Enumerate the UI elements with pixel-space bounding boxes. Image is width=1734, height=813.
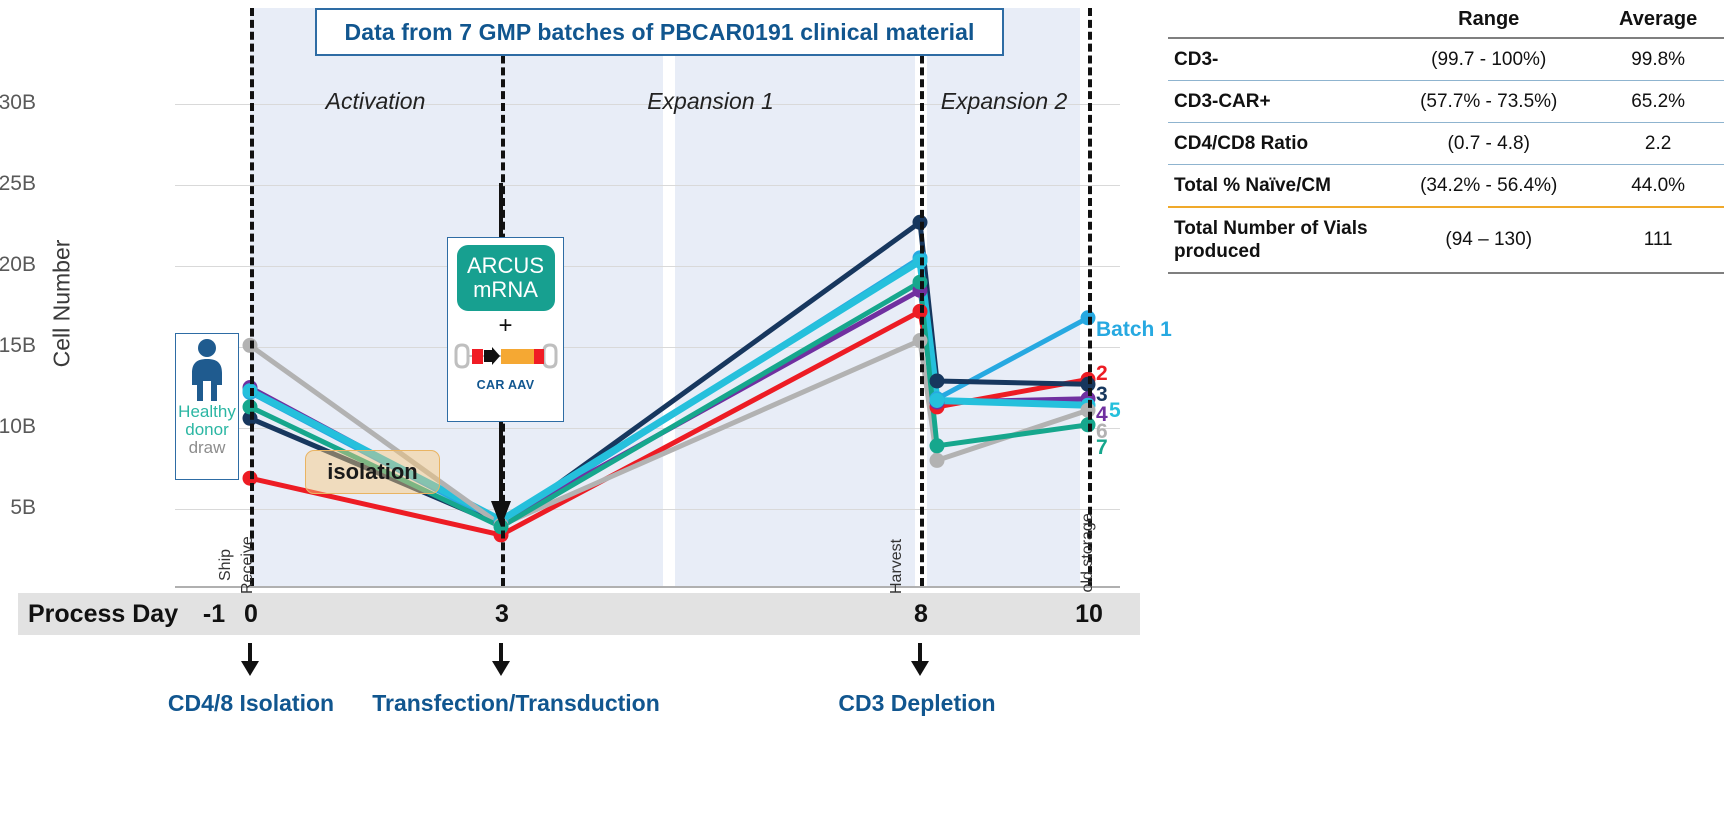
- isolation-callout: isolation: [305, 450, 440, 494]
- phase-label-expansion-2: Expansion 2: [920, 88, 1088, 115]
- note-harvest: Harvest: [888, 539, 906, 594]
- plus-icon: +: [498, 315, 512, 337]
- cell-average: 99.8%: [1592, 38, 1724, 81]
- y-tick-10b: 10B: [0, 415, 36, 439]
- table-header-row: Range Average: [1168, 6, 1724, 38]
- y-tick-15b: 15B: [0, 334, 36, 358]
- day-value-8: 8: [914, 600, 928, 629]
- stats-table-element: Range Average CD3-(99.7 - 100%)99.8%CD3-…: [1168, 6, 1724, 274]
- series-line-2: [250, 311, 1088, 535]
- arcus-line-1: ARCUS: [467, 254, 544, 278]
- table-row: CD4/CD8 Ratio(0.7 - 4.8)2.2: [1168, 123, 1724, 165]
- donor-line-3: draw: [189, 439, 226, 457]
- day-value-0: 0: [244, 600, 258, 629]
- series-point: [930, 438, 945, 453]
- note-cold-storage: Cold storage: [1079, 513, 1097, 604]
- cd48-isolation-arrow-icon: [239, 643, 263, 677]
- legend-batch-1: Batch 1: [1096, 318, 1172, 342]
- cell-range: (94 – 130): [1385, 207, 1592, 273]
- cell-metric: CD4/CD8 Ratio: [1168, 123, 1385, 165]
- phase-label-activation: Activation: [250, 88, 501, 115]
- table-row: CD3-CAR+(57.7% - 73.5%)65.2%: [1168, 81, 1724, 123]
- healthy-donor-draw-box: Healthy donor draw: [175, 333, 239, 480]
- annotation-cd48-isolation: CD4/8 Isolation: [168, 690, 334, 717]
- annotation-cd3-depletion: CD3 Depletion: [838, 690, 995, 717]
- transfection-transduction-arrow-icon: [490, 643, 514, 677]
- legend-batch-7: 7: [1096, 436, 1108, 460]
- cell-range: (57.7% - 73.5%): [1385, 81, 1592, 123]
- note-receive: Receive: [239, 536, 257, 594]
- cell-metric: CD3-: [1168, 38, 1385, 81]
- process-day-strip: Process Day -1 0 3 8 10: [18, 593, 1140, 635]
- y-axis-label: Cell Number: [49, 240, 76, 368]
- cell-range: (34.2% - 56.4%): [1385, 165, 1592, 208]
- cell-range: (0.7 - 4.8): [1385, 123, 1592, 165]
- stats-table-body: CD3-(99.7 - 100%)99.8%CD3-CAR+(57.7% - 7…: [1168, 38, 1724, 273]
- series-point: [930, 453, 945, 468]
- phase-label-expansion-1: Expansion 1: [501, 88, 920, 115]
- day-value-10: 10: [1075, 600, 1103, 629]
- header-metric: [1168, 6, 1385, 38]
- cell-metric: Total % Naïve/CM: [1168, 165, 1385, 208]
- y-tick-20b: 20B: [0, 253, 36, 277]
- arcus-construct-box: ARCUS mRNA + CAR AAV: [447, 237, 564, 422]
- donor-line-2: donor: [185, 421, 228, 439]
- arcus-pill: ARCUS mRNA: [457, 245, 555, 311]
- chart-title: Data from 7 GMP batches of PBCAR0191 cli…: [315, 8, 1004, 56]
- person-icon: [186, 337, 228, 403]
- chart-panel: Cell Number 30B 25B 20B 15B 10B 5B Activ…: [0, 0, 1160, 813]
- day-value--1: -1: [203, 600, 225, 629]
- cell-range: (99.7 - 100%): [1385, 38, 1592, 81]
- x-axis-baseline: [175, 586, 1120, 588]
- header-average: Average: [1592, 6, 1724, 38]
- series-point: [930, 374, 945, 389]
- note-ship: Ship: [217, 549, 235, 581]
- header-range: Range: [1385, 6, 1592, 38]
- cell-average: 44.0%: [1592, 165, 1724, 208]
- cell-metric: CD3-CAR+: [1168, 81, 1385, 123]
- cell-metric: Total Number of Vials produced: [1168, 207, 1385, 273]
- series-point: [930, 393, 945, 408]
- cell-average: 65.2%: [1592, 81, 1724, 123]
- cell-average: 111: [1592, 207, 1724, 273]
- y-tick-30b: 30B: [0, 91, 36, 115]
- day-value-3: 3: [495, 600, 509, 629]
- cell-average: 2.2: [1592, 123, 1724, 165]
- table-row: CD3-(99.7 - 100%)99.8%: [1168, 38, 1724, 81]
- donor-line-1: Healthy: [178, 403, 236, 421]
- plot-area: Activation Expansion 1 Expansion 2 Ship …: [175, 8, 1120, 586]
- summary-statistics-table: Range Average CD3-(99.7 - 100%)99.8%CD3-…: [1168, 6, 1724, 274]
- y-tick-25b: 25B: [0, 172, 36, 196]
- cd3-depletion-arrow-icon: [909, 643, 933, 677]
- annotation-transfection-transduction: Transfection/Transduction: [372, 690, 660, 717]
- table-row: Total Number of Vials produced(94 – 130)…: [1168, 207, 1724, 273]
- day-marker-10: [1088, 8, 1092, 586]
- y-tick-5b: 5B: [0, 496, 36, 520]
- arcus-line-2: mRNA: [473, 278, 538, 302]
- legend-batch-5: 5: [1109, 399, 1121, 423]
- aav-caption: CAR AAV: [477, 378, 535, 392]
- aav-construct-icon: [454, 337, 558, 375]
- series-line-6: [250, 341, 1088, 526]
- process-day-label: Process Day: [28, 600, 178, 629]
- table-row: Total % Naïve/CM(34.2% - 56.4%)44.0%: [1168, 165, 1724, 208]
